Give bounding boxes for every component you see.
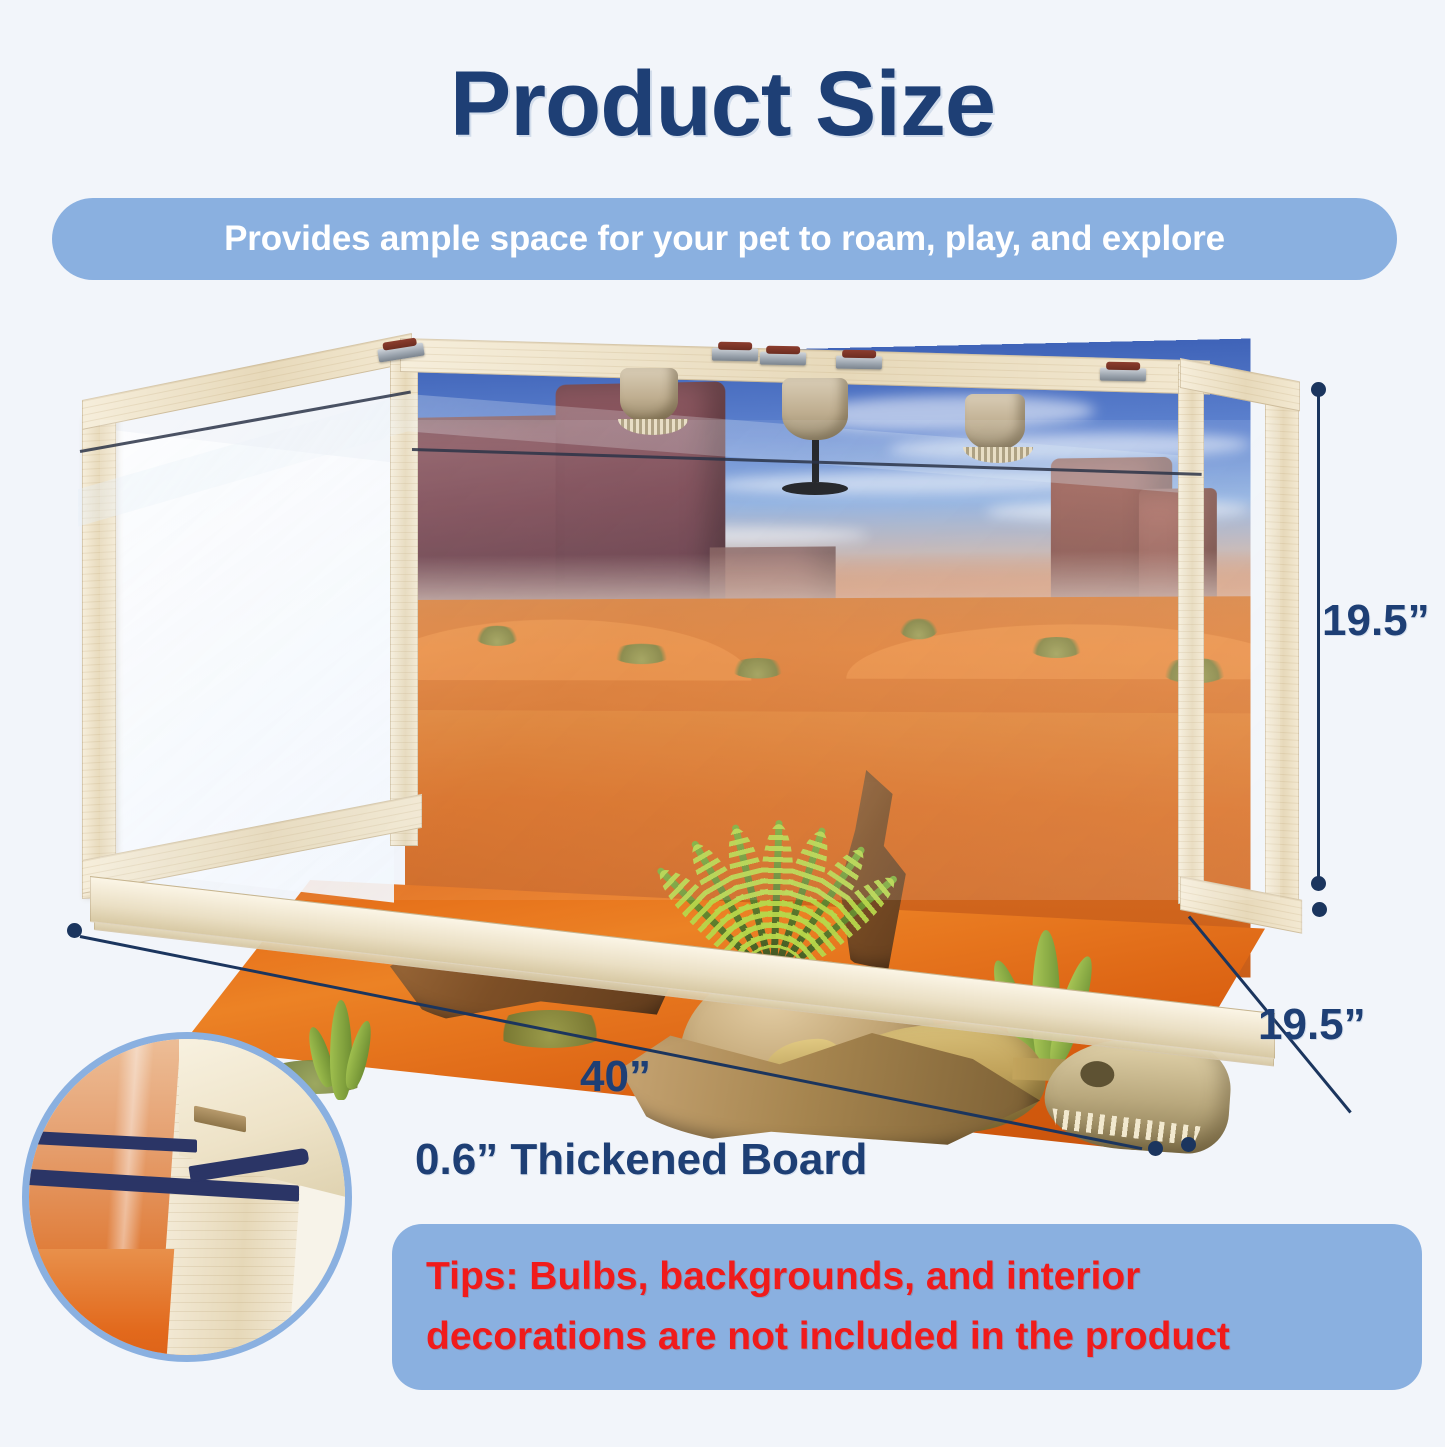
lamp-dome bbox=[620, 368, 678, 422]
lamp-dome bbox=[782, 378, 848, 440]
width-dimension-endpoint bbox=[67, 923, 82, 938]
height-dimension-label: 19.5” bbox=[1322, 596, 1430, 646]
lamp-ring bbox=[618, 419, 688, 435]
heat-lamp bbox=[782, 378, 848, 495]
height-dimension-endpoint bbox=[1311, 876, 1326, 891]
depth-dimension-endpoint bbox=[1181, 1137, 1196, 1152]
hinge-icon bbox=[760, 352, 806, 366]
hinge-icon bbox=[1100, 368, 1146, 382]
terrarium-photo bbox=[60, 320, 1290, 1080]
heat-lamp bbox=[620, 368, 688, 435]
tips-line-2: decorations are not included in the prod… bbox=[426, 1307, 1388, 1367]
subtitle-text: Provides ample space for your pet to roa… bbox=[224, 219, 1225, 259]
subtitle-banner: Provides ample space for your pet to roa… bbox=[52, 198, 1397, 280]
width-dimension-endpoint bbox=[1148, 1141, 1163, 1156]
board-thickness-label: 0.6” Thickened Board bbox=[415, 1135, 867, 1185]
hinge-icon bbox=[836, 356, 882, 370]
lamp-base bbox=[782, 482, 848, 495]
product-image bbox=[60, 320, 1290, 1080]
desert-shrub bbox=[900, 618, 939, 639]
product-size-infographic: Product Size Provides ample space for yo… bbox=[0, 0, 1445, 1447]
wood-left-top-rail bbox=[82, 333, 412, 430]
wood-right-front-post bbox=[1265, 401, 1299, 903]
desert-shrub bbox=[731, 658, 785, 679]
heat-lamp bbox=[965, 394, 1033, 463]
lamp-ring bbox=[963, 447, 1033, 463]
tips-line-1: Tips: Bulbs, backgrounds, and interior bbox=[426, 1247, 1388, 1307]
wood-left-front-post bbox=[82, 417, 116, 899]
wood-right-inner-post bbox=[1178, 364, 1204, 904]
wood-left-inner-post bbox=[390, 356, 418, 846]
skull-eye-socket bbox=[1079, 1060, 1115, 1088]
width-dimension-label: 40” bbox=[580, 1052, 651, 1102]
detail-orange-lower bbox=[22, 1249, 174, 1362]
tips-banner: Tips: Bulbs, backgrounds, and interior d… bbox=[392, 1224, 1422, 1390]
desert-shrub bbox=[1029, 637, 1084, 658]
page-title: Product Size bbox=[0, 56, 1445, 153]
corner-joint-detail-circle bbox=[22, 1032, 352, 1362]
depth-dimension-label: 19.5” bbox=[1258, 1000, 1366, 1050]
hinge-icon bbox=[712, 348, 758, 362]
lamp-dome bbox=[965, 394, 1025, 450]
desert-shrub bbox=[612, 644, 672, 664]
height-dimension-line bbox=[1317, 389, 1320, 882]
depth-dimension-endpoint bbox=[1312, 902, 1327, 917]
desert-shrub bbox=[475, 626, 519, 646]
height-dimension-endpoint bbox=[1311, 382, 1326, 397]
